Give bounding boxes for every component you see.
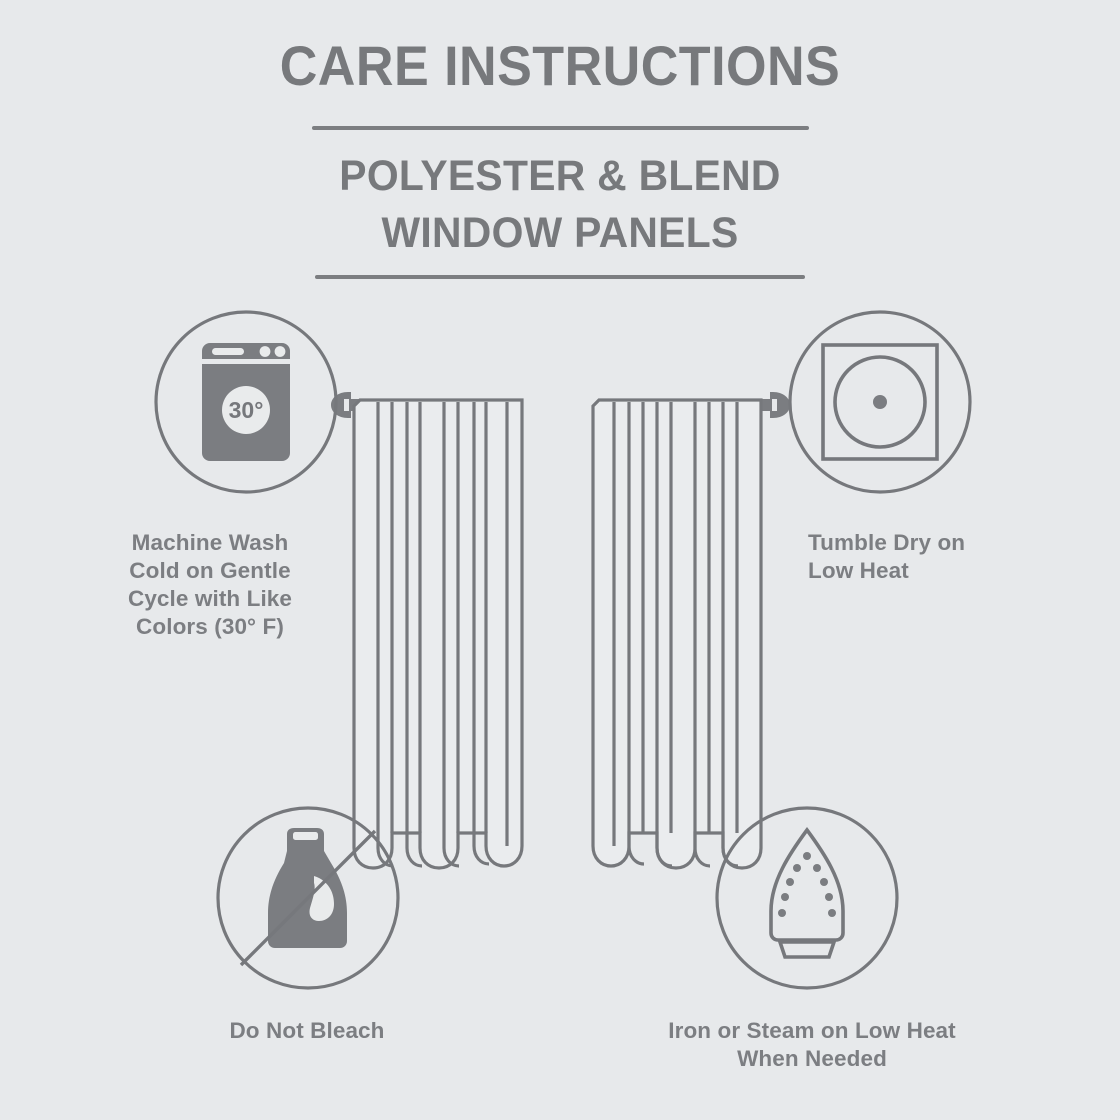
badge-do-not-bleach [213, 803, 403, 993]
do-not-bleach-icon [213, 803, 403, 993]
caption-do-not-bleach: Do Not Bleach [152, 1017, 462, 1045]
wash-temperature-label: 30° [229, 397, 264, 423]
iron-steam-icon [712, 803, 902, 993]
detergent-bottle-icon [268, 828, 347, 948]
tumble-dry-low-icon [785, 307, 975, 497]
caption-line: Machine Wash [85, 529, 335, 557]
caption-iron-steam: Iron or Steam on Low Heat When Needed [612, 1017, 1012, 1073]
badge-machine-wash: 30° [151, 307, 341, 497]
badge-iron-steam [712, 803, 902, 993]
curtain-panel-right [593, 400, 761, 868]
caption-line: When Needed [612, 1045, 1012, 1073]
page-title: CARE INSTRUCTIONS [39, 33, 1081, 98]
caption-line: Do Not Bleach [152, 1017, 462, 1045]
washing-machine-icon: 30° [151, 307, 341, 497]
caption-tumble-dry: Tumble Dry on Low Heat [808, 529, 1058, 585]
title-divider-top [312, 126, 809, 130]
curtain-panel-left [354, 400, 522, 868]
subtitle-line-1: POLYESTER & BLEND [28, 148, 1092, 205]
page-subtitle: POLYESTER & BLEND WINDOW PANELS [28, 148, 1092, 262]
caption-line: Iron or Steam on Low Heat [612, 1017, 1012, 1045]
subtitle-line-2: WINDOW PANELS [28, 205, 1092, 262]
caption-line: Colors (30° F) [85, 613, 335, 641]
caption-line: Cycle with Like [85, 585, 335, 613]
title-divider-bottom [315, 275, 805, 279]
care-instructions-infographic: CARE INSTRUCTIONS POLYESTER & BLEND WIND… [0, 0, 1120, 1120]
caption-machine-wash: Machine Wash Cold on Gentle Cycle with L… [85, 529, 335, 641]
caption-line: Low Heat [808, 557, 1058, 585]
badge-tumble-dry [785, 307, 975, 497]
caption-line: Tumble Dry on [808, 529, 1058, 557]
caption-line: Cold on Gentle [85, 557, 335, 585]
